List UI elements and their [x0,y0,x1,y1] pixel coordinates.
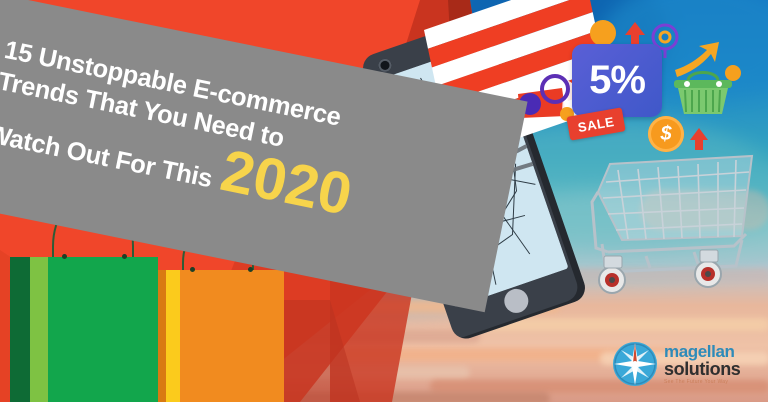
orange-shopping-bag [152,270,284,402]
discount-value: 5% [572,44,662,117]
shopping-basket-icon [672,68,734,118]
logo-wordmark: magellan solutions See The Future Your W… [664,343,740,385]
discount-bubble: 5% [572,44,662,117]
shopping-cart-illustration [586,140,758,295]
magellan-solutions-logo[interactable]: magellan solutions See The Future Your W… [612,336,758,392]
logo-line-2: solutions [664,360,740,378]
cart-svg [586,140,758,295]
orange-dot-icon [590,20,616,46]
green-shopping-bag [10,257,158,402]
cursor-arrow-icon [625,22,645,46]
banner-image: 5% SALE $ [0,0,768,402]
logo-line-1: magellan [664,343,740,360]
sale-tag-label: SALE [577,113,616,134]
circle-ring-icon [540,74,570,104]
compass-rose-icon [612,341,658,387]
logo-tagline: See The Future Your Way [664,380,740,385]
